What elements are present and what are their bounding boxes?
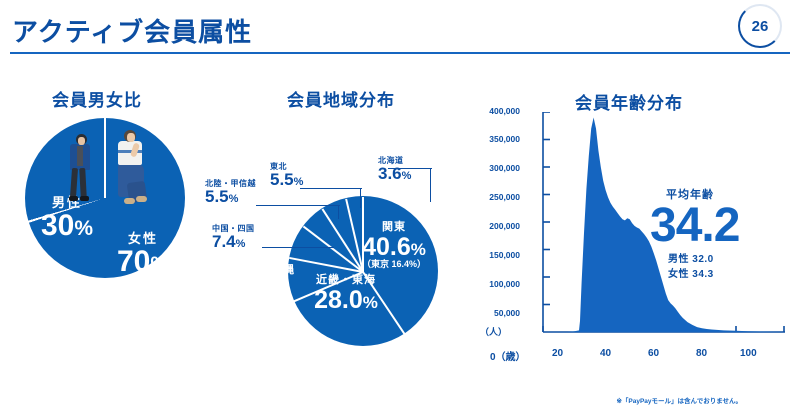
- y-axis-tick-labels: 400,000 350,000 300,000 250,000 200,000 …: [462, 106, 520, 356]
- y-tick-350000: 350,000: [489, 134, 520, 144]
- region-slice-kanto: 関東 40.6% （東京 16.4%）: [348, 222, 440, 269]
- leader-line-hokkaido-drop: [430, 168, 431, 202]
- x-tick-80: 80: [696, 348, 707, 359]
- region-slice-kyushu-value: 9.4: [246, 276, 272, 297]
- person-male-face: [78, 137, 85, 145]
- region-callout-hokkaido-value: 3.6: [378, 164, 402, 183]
- person-male-leg-left: [70, 168, 78, 198]
- person-female-sandal-left: [124, 198, 135, 204]
- y-tick-100000: 100,000: [489, 279, 520, 289]
- x-tick-60: 60: [648, 348, 659, 359]
- region-callout-hokuriku: 北陸・甲信越 5.5%: [205, 180, 256, 206]
- gender-chart-title: 会員男女比: [52, 86, 142, 111]
- leader-line-tohoku-drop: [360, 188, 361, 208]
- seated-people-illustration: [62, 130, 170, 208]
- y-tick-250000: 250,000: [489, 192, 520, 202]
- average-age-male: 男性 32.0: [668, 250, 780, 265]
- age-chart-title: 会員年齢分布: [575, 89, 683, 114]
- page-number-badge: 26: [738, 4, 782, 48]
- percent-sign-icon: %: [229, 193, 239, 205]
- region-slice-kanto-value: 40.6: [362, 233, 411, 261]
- leader-line-hokuriku-drop: [338, 205, 339, 219]
- percent-sign-icon: %: [236, 238, 246, 250]
- average-age-female: 女性 34.3: [668, 265, 780, 280]
- person-male-shirt: [77, 146, 83, 166]
- average-age-value: 34.2: [650, 202, 780, 250]
- region-slice-kanto-sublabel: （東京 16.4%）: [348, 260, 440, 269]
- region-slice-kyushu: 九州・沖縄 9.4%: [235, 265, 295, 296]
- title-divider: [10, 52, 790, 54]
- y-tick-400000: 400,000: [489, 106, 520, 116]
- region-callout-chugoku-value: 7.4: [212, 232, 236, 251]
- percent-sign-icon: %: [150, 253, 169, 276]
- leader-line-tohoku: [300, 188, 362, 189]
- region-slice-kinki-value: 28.0: [314, 286, 363, 314]
- percent-sign-icon: %: [272, 280, 284, 295]
- percent-sign-icon: %: [294, 176, 304, 188]
- percent-sign-icon: %: [74, 217, 93, 240]
- person-male-shoe-right: [80, 196, 89, 201]
- region-callout-tohoku: 東北 5.5%: [270, 163, 303, 189]
- x-tick-100: 100: [740, 348, 757, 359]
- person-female-sandal-right: [136, 196, 147, 202]
- page-title: アクティブ会員属性: [12, 12, 252, 49]
- region-pie-chart: [288, 196, 438, 346]
- leader-line-chugoku: [262, 247, 334, 248]
- percent-sign-icon: %: [363, 293, 378, 312]
- person-male-shoe-left: [69, 196, 78, 201]
- x-tick-20: 20: [552, 348, 563, 359]
- gender-slice-female-label: 女性: [106, 232, 180, 245]
- person-female-face: [127, 133, 135, 142]
- x-tick-0: 0（歳）: [490, 348, 526, 363]
- y-tick-150000: 150,000: [489, 250, 520, 260]
- person-male-leg-right: [79, 168, 87, 198]
- gender-slice-female-value: 70: [117, 245, 150, 278]
- gender-slice-female: 女性 70%: [106, 232, 180, 277]
- leader-line-hokuriku: [256, 205, 340, 206]
- y-tick-300000: 300,000: [489, 163, 520, 173]
- region-callout-chugoku: 中国・四国 7.4%: [212, 225, 255, 251]
- region-callout-hokkaido: 北海道 3.6%: [378, 157, 411, 183]
- region-chart-title: 会員地域分布: [287, 86, 395, 111]
- average-age-callout: 平均年齢 34.2 男性 32.0 女性 34.3: [650, 186, 780, 280]
- slide-canvas: アクティブ会員属性 26 会員男女比 男性 30% 女性 70% 会員地域分布: [0, 0, 800, 411]
- region-callout-tohoku-value: 5.5: [270, 170, 294, 189]
- region-callout-hokuriku-value: 5.5: [205, 187, 229, 206]
- y-tick-200000: 200,000: [489, 221, 520, 231]
- x-axis-tick-labels: 0（歳） 20 40 60 80 100: [490, 348, 790, 366]
- x-tick-40: 40: [600, 348, 611, 359]
- y-tick-50000: 50,000: [494, 308, 520, 318]
- y-axis-unit-label: （人）: [480, 325, 507, 338]
- footnote-text: ※「PayPayモール」は含んでおりません。: [616, 395, 742, 405]
- percent-sign-icon: %: [402, 170, 412, 182]
- percent-sign-icon: %: [411, 240, 426, 259]
- region-slice-kinki: 近畿・東海 28.0%: [300, 275, 392, 313]
- gender-slice-male-value: 30: [41, 209, 74, 242]
